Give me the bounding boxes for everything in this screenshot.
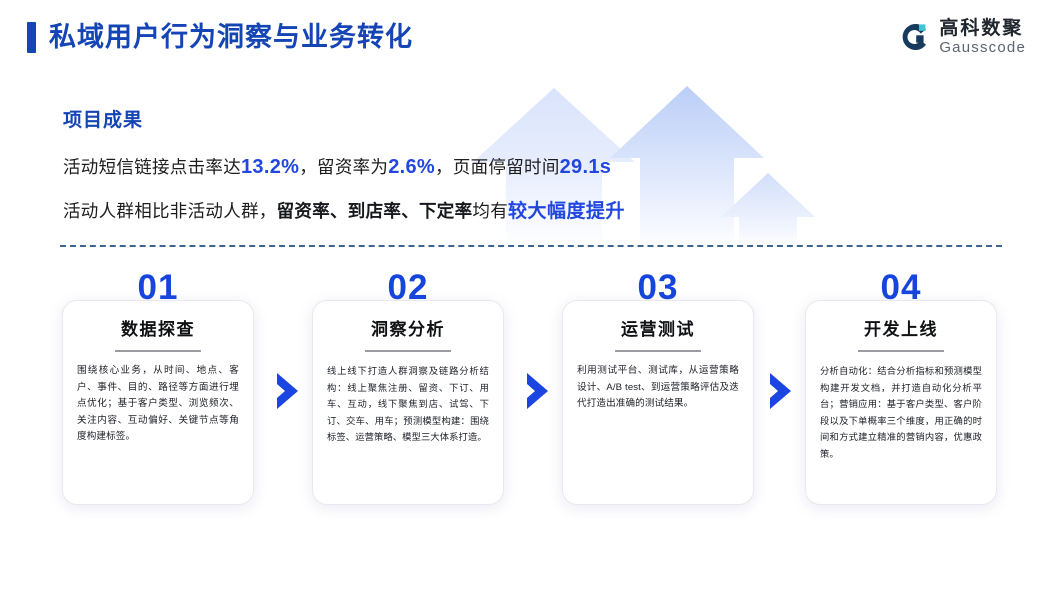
brand-logo: 高科数聚 Gausscode xyxy=(898,18,1026,56)
step-title-02: 洞察分析 xyxy=(327,319,489,341)
logo-text: 高科数聚 Gausscode xyxy=(939,18,1026,56)
step-description-03: 利用测试平台、测试库，从运营策略设计、A/B test、到运营策略评估及迭代打造… xyxy=(577,363,739,413)
comparison-result: 较大幅度提升 xyxy=(508,201,625,222)
step-card-body-01[interactable]: 数据探查 围绕核心业务，从时间、地点、客户、事件、目的、路径等方面进行埋点优化；… xyxy=(62,300,254,505)
step-card-body-03[interactable]: 运营测试 利用测试平台、测试库，从运营策略设计、A/B test、到运营策略评估… xyxy=(562,300,754,505)
results-metric-line-2: 活动人群相比非活动人群，留资率、到店率、下定率均有较大幅度提升 xyxy=(63,196,625,227)
chevron-right-icon-2 xyxy=(524,371,552,411)
step-description-04: 分析自动化：结合分析指标和预测模型构建开发文档，并打造自动化分析平台；营销应用：… xyxy=(820,363,982,462)
step-card-body-02[interactable]: 洞察分析 线上线下打造人群洞察及链路分析结构：线上聚焦注册、留资、下订、用车、互… xyxy=(312,300,504,505)
step-description-01: 围绕核心业务，从时间、地点、客户、事件、目的、路径等方面进行埋点优化；基于客户类… xyxy=(77,363,239,446)
section-divider xyxy=(60,245,1002,247)
slide-root: 私域用户行为洞察与业务转化 高科数聚 Gausscode 项目成果 活动短信链接… xyxy=(0,0,1048,591)
header: 私域用户行为洞察与业务转化 高科数聚 Gausscode xyxy=(0,0,1048,78)
step-title-rule-03 xyxy=(615,350,701,352)
step-title-rule-02 xyxy=(365,350,451,352)
step-title-01: 数据探查 xyxy=(77,319,239,341)
step-title-rule-01 xyxy=(115,350,201,352)
logo-mark-icon xyxy=(898,20,932,54)
metric-value-lead-rate: 2.6% xyxy=(388,156,435,178)
results-heading: 项目成果 xyxy=(63,108,625,134)
logo-name-en: Gausscode xyxy=(939,39,1026,56)
comparison-connector: 均有 xyxy=(472,201,508,221)
page-title: 私域用户行为洞察与业务转化 xyxy=(27,22,413,53)
metric-label-click-rate: 活动短信链接点击率达 xyxy=(63,157,241,177)
logo-name-cn: 高科数聚 xyxy=(939,18,1026,39)
background-arrow-center xyxy=(610,86,764,250)
comparison-metrics: 留资率、到店率、下定率 xyxy=(277,201,473,221)
step-card-01[interactable]: 01 数据探查 围绕核心业务，从时间、地点、客户、事件、目的、路径等方面进行埋点… xyxy=(62,268,254,308)
step-card-body-04[interactable]: 开发上线 分析自动化：结合分析指标和预测模型构建开发文档，并打造自动化分析平台；… xyxy=(805,300,997,505)
step-card-04[interactable]: 04 开发上线 分析自动化：结合分析指标和预测模型构建开发文档，并打造自动化分析… xyxy=(805,268,997,308)
project-results-section: 项目成果 活动短信链接点击率达13.2%，留资率为2.6%，页面停留时间29.1… xyxy=(63,108,625,227)
comparison-label: 活动人群相比非活动人群， xyxy=(63,201,277,221)
metric-value-dwell-time: 29.1s xyxy=(560,156,612,178)
metric-value-click-rate: 13.2% xyxy=(241,156,299,178)
metric-label-lead-rate: ，留资率为 xyxy=(299,157,388,177)
metric-label-dwell-time: ，页面停留时间 xyxy=(435,157,560,177)
process-steps: 01 数据探查 围绕核心业务，从时间、地点、客户、事件、目的、路径等方面进行埋点… xyxy=(0,268,1048,518)
title-accent-bar xyxy=(27,22,36,53)
step-description-02: 线上线下打造人群洞察及链路分析结构：线上聚焦注册、留资、下订、用车、互动，线下聚… xyxy=(327,363,489,446)
step-card-02[interactable]: 02 洞察分析 线上线下打造人群洞察及链路分析结构：线上聚焦注册、留资、下订、用… xyxy=(312,268,504,308)
background-arrow-right xyxy=(721,173,815,250)
page-title-text: 私域用户行为洞察与业务转化 xyxy=(49,22,413,53)
step-title-03: 运营测试 xyxy=(577,319,739,341)
step-title-rule-04 xyxy=(858,350,944,352)
step-title-04: 开发上线 xyxy=(820,319,982,341)
chevron-right-icon-1 xyxy=(274,371,302,411)
results-metric-line-1: 活动短信链接点击率达13.2%，留资率为2.6%，页面停留时间29.1s xyxy=(63,152,625,182)
chevron-right-icon-3 xyxy=(767,371,795,411)
step-card-03[interactable]: 03 运营测试 利用测试平台、测试库，从运营策略设计、A/B test、到运营策… xyxy=(562,268,754,308)
